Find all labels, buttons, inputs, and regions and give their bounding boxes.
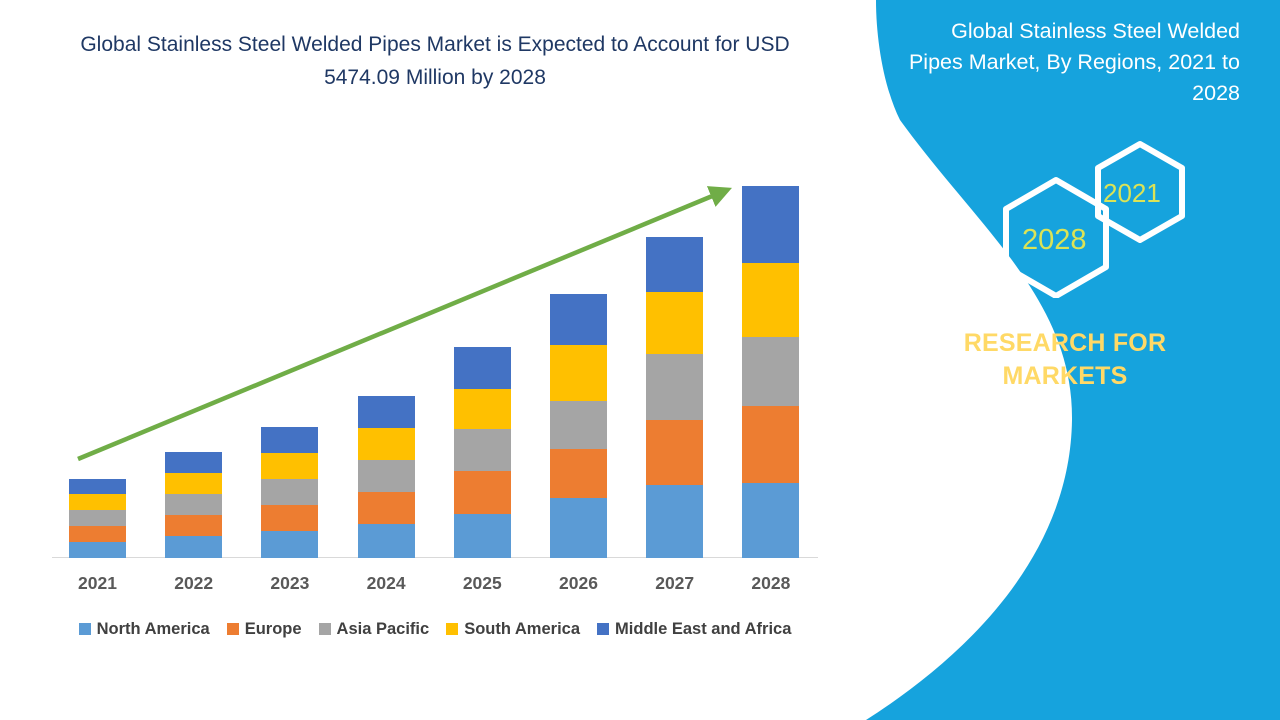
- bar-2024[interactable]: [358, 396, 415, 558]
- legend-item[interactable]: North America: [79, 620, 210, 639]
- legend-item[interactable]: Middle East and Africa: [597, 620, 791, 639]
- legend-item[interactable]: South America: [446, 620, 580, 639]
- bar-2025[interactable]: [454, 347, 511, 558]
- bar-2027[interactable]: [646, 237, 703, 558]
- legend-swatch-icon: [227, 623, 239, 635]
- infographic-root: Global Stainless Steel Welded Pipes Mark…: [0, 0, 1280, 720]
- bar-segment[interactable]: [358, 428, 415, 460]
- hex-badge-group: 2021 2028: [990, 138, 1220, 298]
- bar-segment[interactable]: [646, 485, 703, 558]
- bar-segment[interactable]: [646, 420, 703, 485]
- bar-segment[interactable]: [261, 453, 318, 479]
- x-axis-label-2021: 2021: [53, 573, 143, 594]
- chart-legend: North AmericaEuropeAsia PacificSouth Ame…: [40, 617, 830, 641]
- bar-segment[interactable]: [742, 186, 799, 263]
- bar-segment[interactable]: [454, 429, 511, 471]
- bar-2028[interactable]: [742, 186, 799, 558]
- hex-badge-2028: 2028: [1022, 224, 1087, 257]
- legend-swatch-icon: [79, 623, 91, 635]
- bar-segment[interactable]: [69, 526, 126, 542]
- bar-segment[interactable]: [646, 237, 703, 292]
- hex-badge-2021: 2021: [1103, 178, 1161, 209]
- legend-label: Asia Pacific: [337, 620, 430, 639]
- brand-line-1: RESEARCH FOR: [890, 327, 1240, 360]
- bar-segment[interactable]: [742, 263, 799, 337]
- bar-segment[interactable]: [550, 345, 607, 401]
- legend-item[interactable]: Europe: [227, 620, 302, 639]
- legend-label: South America: [464, 620, 580, 639]
- bar-segment[interactable]: [646, 354, 703, 420]
- bar-segment[interactable]: [742, 337, 799, 406]
- bar-2022[interactable]: [165, 452, 222, 558]
- bar-group: [0, 0, 840, 720]
- bar-segment[interactable]: [742, 483, 799, 558]
- x-axis-label-2022: 2022: [149, 573, 239, 594]
- bar-segment[interactable]: [646, 292, 703, 354]
- bar-segment[interactable]: [454, 514, 511, 558]
- bar-segment[interactable]: [69, 479, 126, 494]
- bar-segment[interactable]: [165, 494, 222, 515]
- bar-segment[interactable]: [550, 401, 607, 449]
- legend-label: North America: [97, 620, 210, 639]
- legend-item[interactable]: Asia Pacific: [319, 620, 430, 639]
- bar-segment[interactable]: [261, 479, 318, 505]
- x-axis-label-2028: 2028: [726, 573, 816, 594]
- bar-segment[interactable]: [742, 406, 799, 483]
- bar-segment[interactable]: [454, 389, 511, 429]
- bar-2023[interactable]: [261, 427, 318, 558]
- x-axis-labels: 20212022202320242025202620272028: [0, 573, 840, 601]
- bar-segment[interactable]: [165, 536, 222, 558]
- chart-plot-area: 20212022202320242025202620272028: [0, 0, 840, 720]
- brand-line-2: MARKETS: [890, 360, 1240, 393]
- x-axis-label-2025: 2025: [437, 573, 527, 594]
- brand-panel: Global Stainless Steel Welded Pipes Mark…: [840, 0, 1280, 720]
- x-axis-label-2023: 2023: [245, 573, 335, 594]
- bar-2021[interactable]: [69, 479, 126, 558]
- bar-segment[interactable]: [358, 396, 415, 428]
- x-axis-label-2026: 2026: [534, 573, 624, 594]
- bar-segment[interactable]: [69, 510, 126, 526]
- legend-label: Middle East and Africa: [615, 620, 791, 639]
- bar-segment[interactable]: [69, 542, 126, 558]
- bar-segment[interactable]: [550, 294, 607, 345]
- bar-segment[interactable]: [69, 494, 126, 510]
- bar-segment[interactable]: [358, 524, 415, 558]
- x-axis-label-2024: 2024: [341, 573, 431, 594]
- bar-segment[interactable]: [165, 473, 222, 494]
- x-axis-label-2027: 2027: [630, 573, 720, 594]
- bar-segment[interactable]: [261, 531, 318, 558]
- bar-segment[interactable]: [261, 505, 318, 531]
- bar-segment[interactable]: [358, 492, 415, 524]
- legend-label: Europe: [245, 620, 302, 639]
- bar-segment[interactable]: [550, 449, 607, 498]
- bar-2026[interactable]: [550, 294, 607, 558]
- bar-segment[interactable]: [454, 347, 511, 389]
- legend-swatch-icon: [446, 623, 458, 635]
- bar-segment[interactable]: [165, 452, 222, 473]
- brand-name: RESEARCH FOR MARKETS: [890, 327, 1240, 393]
- bar-segment[interactable]: [454, 471, 511, 514]
- panel-title: Global Stainless Steel Welded Pipes Mark…: [900, 16, 1240, 109]
- legend-swatch-icon: [597, 623, 609, 635]
- bar-segment[interactable]: [165, 515, 222, 536]
- legend-swatch-icon: [319, 623, 331, 635]
- bar-segment[interactable]: [358, 460, 415, 492]
- bar-segment[interactable]: [550, 498, 607, 558]
- bar-segment[interactable]: [261, 427, 318, 453]
- hexagons-icon: [990, 138, 1220, 298]
